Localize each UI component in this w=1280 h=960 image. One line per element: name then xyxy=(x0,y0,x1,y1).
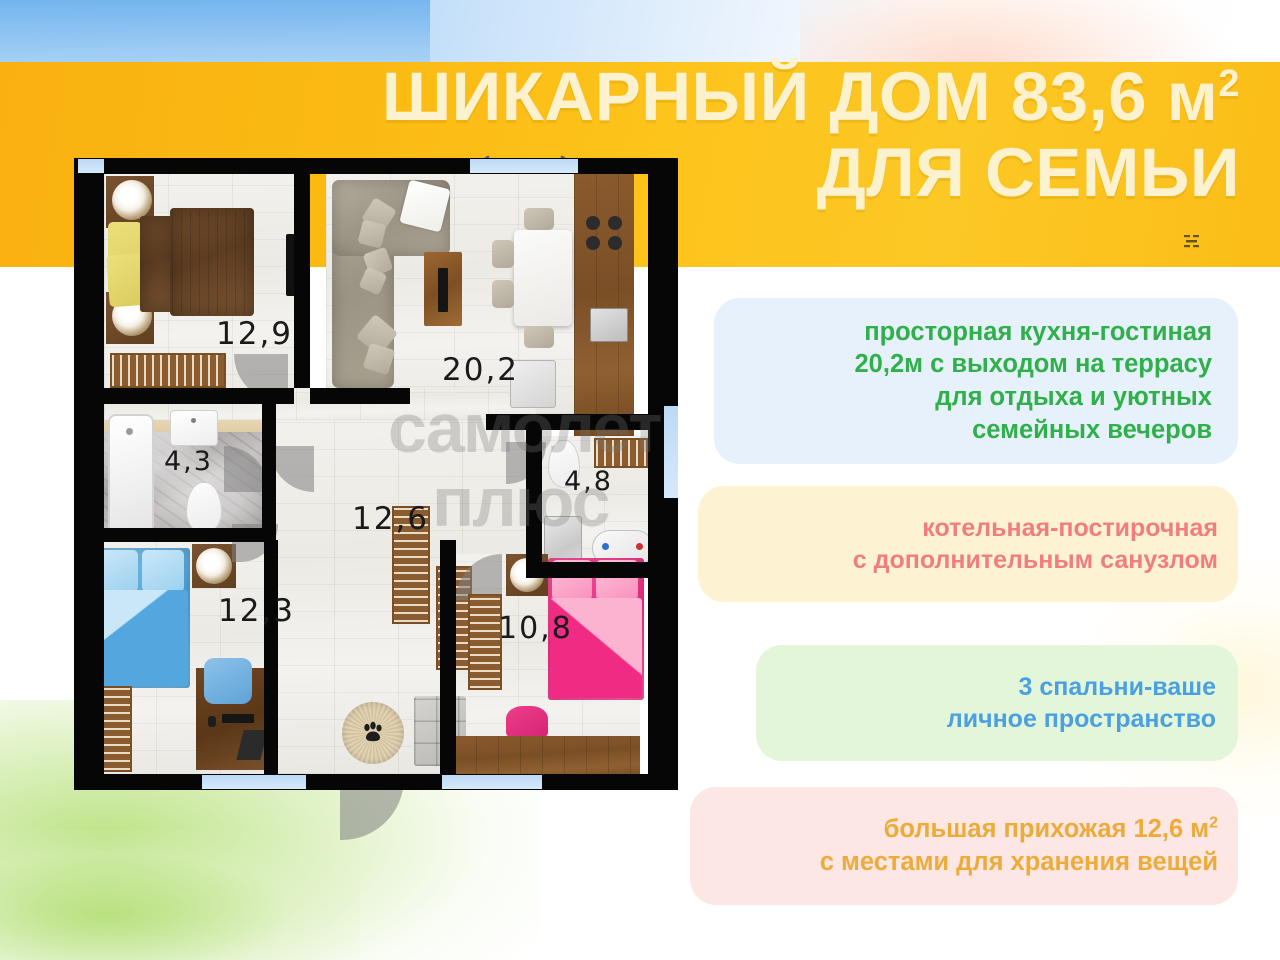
wall-exterior-left xyxy=(74,158,104,790)
ottoman-pink xyxy=(506,706,548,738)
window-opening-tl xyxy=(78,159,104,173)
callout-4-superscript: 2 xyxy=(1209,815,1218,832)
lamp-blue-bedroom xyxy=(196,548,232,584)
pillow-blue-2 xyxy=(142,550,184,592)
dining-chair-left-1 xyxy=(492,240,514,268)
threshold-pink-bedroom xyxy=(454,736,640,778)
wardrobe-pink-bedroom xyxy=(468,594,502,690)
bathroom-sink-drain xyxy=(191,418,196,423)
coffee-table-tray xyxy=(438,268,448,312)
kitchen-sink xyxy=(590,308,628,342)
banner-superscript: 2 xyxy=(1218,63,1240,105)
bathroom-sink xyxy=(170,410,218,446)
wall-blue-bedroom-right xyxy=(264,540,278,774)
wall-bathroom-right xyxy=(262,404,276,540)
mouse xyxy=(208,716,216,727)
bedside-lamp-top xyxy=(112,180,152,220)
floor-plan: 12,9 20,2 4,3 4,8 12,6 12,3 10,8 xyxy=(74,158,678,790)
area-label-bedroom-blue: 12,3 xyxy=(218,593,295,629)
toilet-bathroom xyxy=(186,482,222,534)
pillow-blue-1 xyxy=(98,550,138,592)
callout-1-line-4: семейных вечеров xyxy=(855,414,1213,447)
cooktop-burner-4 xyxy=(608,236,622,250)
area-label-kitchen-living: 20,2 xyxy=(442,352,519,388)
cooktop-burner-2 xyxy=(608,216,622,230)
bed-master-duvet-folds xyxy=(172,210,252,314)
callout-4-line-2: с местами для хранения вещей xyxy=(820,846,1218,879)
wall-boiler-bottom xyxy=(526,562,660,578)
background-green-glow-2 xyxy=(0,830,360,960)
dining-chair-left-2 xyxy=(492,280,514,308)
keyboard xyxy=(222,714,254,723)
window-opening-tr xyxy=(470,159,578,173)
area-label-boiler: 4,8 xyxy=(564,466,613,497)
callout-4-line-1: большая прихожая 12,6 м2 xyxy=(820,813,1218,846)
area-label-bedroom-master: 12,9 xyxy=(216,316,293,352)
callout-kitchen-living: просторная кухня-гостиная 20,2м с выходо… xyxy=(714,298,1238,464)
wall-living-bottom-right xyxy=(486,414,660,430)
wardrobe-master-bedroom xyxy=(110,353,226,388)
cooktop-burner-1 xyxy=(586,216,600,230)
callout-2-line-1: котельная-постирочная xyxy=(853,512,1218,544)
paw-print-icon xyxy=(360,720,386,746)
callout-3-line-1: 3 спальни-ваше xyxy=(947,671,1216,703)
wall-bathroom-bottom xyxy=(104,528,264,542)
area-label-hall: 12,6 xyxy=(352,501,429,537)
callout-bedrooms: 3 спальни-ваше личное пространство xyxy=(756,645,1238,761)
dining-table xyxy=(514,230,572,326)
banner-title-line1: ШИКАРНЫЙ ДОМ 83,6 м2 xyxy=(0,64,1240,130)
cooktop-burner-3 xyxy=(586,236,600,250)
infographic-canvas: ШИКАРНЫЙ ДОМ 83,6 м2 ДЛЯ СЕМЬИ xyxy=(0,0,1280,960)
washer-indicator-cold xyxy=(602,543,609,550)
wall-bedroom-living xyxy=(294,174,310,388)
callout-boiler-room: котельная-постирочная с дополнительным с… xyxy=(698,486,1238,602)
desk-chair xyxy=(204,658,252,704)
window-opening-br xyxy=(442,775,542,789)
callout-hallway: большая прихожая 12,6 м2 с местами для х… xyxy=(690,787,1238,905)
wall-pink-bedroom-left xyxy=(440,540,456,774)
callout-3-line-2: личное пространство xyxy=(947,703,1216,735)
washer-indicator-hot xyxy=(636,543,643,550)
wall-living-bottom-left xyxy=(310,388,410,404)
wall-exterior-bottom xyxy=(74,774,678,790)
window-opening-r xyxy=(664,406,678,498)
dining-chair-top xyxy=(524,208,554,230)
wall-exterior-top xyxy=(74,158,678,174)
area-label-bathroom: 4,3 xyxy=(164,446,213,477)
dining-chair-bottom xyxy=(524,326,554,348)
wall-bedroom-bottom xyxy=(104,388,294,404)
decorative-mark-icon xyxy=(1182,232,1202,252)
callout-1-line-1: просторная кухня-гостиная xyxy=(855,316,1213,349)
callout-1-line-2: 20,2м с выходом на террасу xyxy=(855,348,1213,381)
wall-boiler-left xyxy=(526,430,542,576)
kitchen-counter-floor xyxy=(574,174,634,436)
callout-1-line-3: для отдыха и уютных xyxy=(855,381,1213,414)
callout-2-line-2: с дополнительным санузлом xyxy=(853,544,1218,576)
window-opening-bl xyxy=(202,775,306,789)
bathtub-drain xyxy=(126,428,133,435)
area-label-bedroom-pink: 10,8 xyxy=(498,611,573,646)
entrance-rug xyxy=(342,702,404,764)
